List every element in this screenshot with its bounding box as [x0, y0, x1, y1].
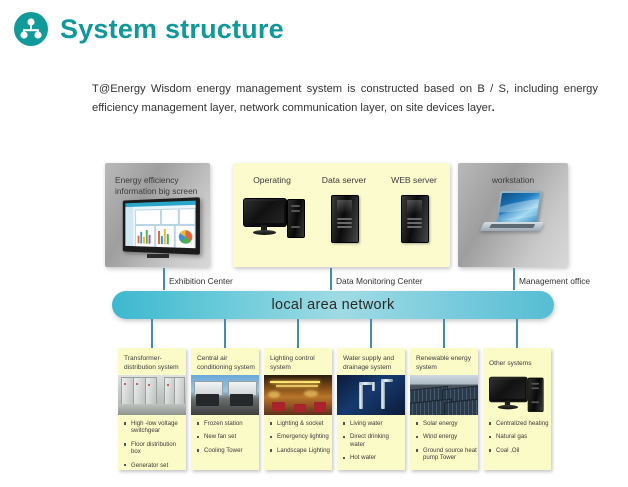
subsystem-title: Water supply and drainage system [343, 355, 401, 372]
subsystem-title: Lighting control system [270, 355, 328, 372]
list-item: Natural gas [488, 433, 550, 440]
connector-label-management: Management office [519, 276, 590, 286]
subsystem-card-water[interactable]: Water supply and drainage system Living … [337, 348, 405, 470]
list-item: Lighting & socket [269, 420, 331, 427]
list-item: Living water [342, 420, 404, 427]
list-item: Wind energy [415, 433, 477, 440]
connector-subsystem-5 [443, 319, 445, 348]
intro-text: T@Energy Wisdom energy management system… [92, 83, 598, 114]
intro-paragraph: T@Energy Wisdom energy management system… [92, 80, 598, 118]
page-title: System structure [14, 12, 284, 46]
subsystem-card-central-air[interactable]: Central air conditioning system Frozen s… [191, 348, 259, 470]
connector-subsystem-2 [224, 319, 226, 348]
panel-data-monitoring-center[interactable]: Operating Data server WEB server [233, 163, 450, 267]
subsystem-title: Other systems [489, 360, 547, 369]
subsystem-item-list: Frozen station New fan set Cooling Tower [196, 420, 258, 460]
list-item: Hot water [342, 454, 404, 461]
list-item: Frozen station [196, 420, 258, 427]
local-area-network-bar[interactable]: local area network [112, 291, 554, 319]
panel-exhibition-label: Energy efficiency information big screen [115, 175, 207, 197]
list-item: New fan set [196, 433, 258, 440]
list-item: Emergency lighting [269, 433, 331, 440]
list-item: Generator set [123, 462, 185, 469]
subsystem-item-list: Living water Direct drinking water Hot w… [342, 420, 404, 468]
subsystem-card-group: Transformer-distribution system High -lo… [0, 348, 628, 473]
list-item: Floor distribution box [123, 441, 185, 456]
local-area-network-label: local area network [271, 297, 394, 313]
subsystem-item-list: Lighting & socket Emergency lighting Lan… [269, 420, 331, 460]
list-item: Centralized heating [488, 420, 550, 427]
list-item: Direct drinking water [342, 433, 404, 448]
interior-lighting-photo [264, 375, 332, 415]
subsystem-title: Renewable energy system [416, 355, 474, 372]
top-panel-group: Energy efficiency information big screen [0, 163, 628, 268]
list-item: Solar energy [415, 420, 477, 427]
connector-label-exhibition: Exhibition Center [169, 276, 233, 286]
big-screen-dashboard-icon [119, 199, 199, 253]
subsystem-item-list: Centralized heating Natural gas Coal ,Oi… [488, 420, 550, 460]
solar-panels-photo [410, 375, 478, 415]
connector-subsystem-1 [151, 319, 153, 348]
connector-exhibition [163, 268, 165, 290]
subsystem-card-renewable[interactable]: Renewable energy system Solar energy Win… [410, 348, 478, 470]
panel-exhibition-center[interactable]: Energy efficiency information big screen [105, 163, 210, 267]
server-tower-icon [327, 195, 361, 241]
slide-canvas: System structure T@Energy Wisdom energy … [0, 0, 628, 487]
laptop-icon [482, 191, 544, 239]
subsystem-title: Transformer-distribution system [124, 355, 182, 372]
connector-data-monitoring [330, 268, 332, 290]
panel-item-label-web-server: WEB server [381, 175, 447, 185]
subsystem-card-other[interactable]: Other systems Centralized heating Natura… [483, 348, 551, 470]
connector-management [513, 268, 515, 290]
panel-item-label-data-server: Data server [311, 175, 377, 185]
page-title-text: System structure [60, 14, 284, 45]
subsystem-item-list: Solar energy Wind energy Ground source h… [415, 420, 477, 468]
connector-subsystem-4 [370, 319, 372, 348]
chiller-units-photo [191, 375, 259, 415]
faucet-photo [337, 375, 405, 415]
switchgear-room-photo [118, 375, 186, 415]
panel-management-office[interactable]: workstation [458, 163, 568, 267]
list-item: Cooling Tower [196, 447, 258, 454]
subsystem-item-list: High -low voltage switchgear Floor distr… [123, 420, 185, 475]
subsystem-card-lighting[interactable]: Lighting control system Lighting & socke… [264, 348, 332, 470]
subsystem-card-transformer[interactable]: Transformer-distribution system High -lo… [118, 348, 186, 470]
intro-period: . [492, 102, 495, 114]
connector-label-data-monitoring: Data Monitoring Center [336, 276, 423, 286]
list-item: Landscape Lighting [269, 447, 331, 454]
server-tower-icon [397, 195, 431, 241]
list-item: Coal ,Oil [488, 447, 550, 454]
desktop-computer-icon [243, 196, 305, 242]
network-node-icon [14, 12, 48, 46]
list-item: Ground source heat pump Tower [415, 447, 477, 462]
desktop-computer-icon [483, 375, 551, 415]
list-item: High -low voltage switchgear [123, 420, 185, 435]
panel-workstation-label: workstation [458, 175, 568, 186]
panel-item-label-operating: Operating [239, 175, 305, 185]
connector-subsystem-6 [516, 319, 518, 348]
connector-subsystem-3 [297, 319, 299, 348]
subsystem-title: Central air conditioning system [197, 355, 255, 372]
